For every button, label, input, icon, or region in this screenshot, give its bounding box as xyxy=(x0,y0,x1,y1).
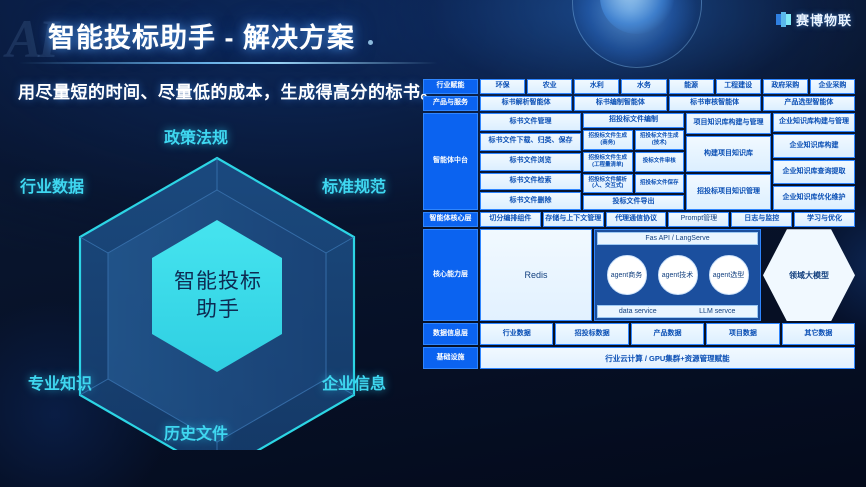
capability-big-model[interactable]: 领域大模型 xyxy=(763,229,855,321)
hexagon-label-enterprise: 企业信息 xyxy=(322,370,386,394)
platform-cell[interactable]: 标书文件浏览 xyxy=(480,153,581,171)
platform-cell[interactable]: 招投标文件生成 (工程量清单) xyxy=(583,152,633,172)
header-glow-dot-2 xyxy=(368,40,373,45)
capability-redis[interactable]: Redis xyxy=(480,229,592,321)
arch-row-industry: 行业赋能 环保 农业 水利 水务 能源 工程建设 政府采购 企业采购 xyxy=(423,79,855,94)
page-subtitle: 用尽量短的时间、尽量低的成本，生成得高分的标书。 xyxy=(18,78,438,103)
arch-label-infrastructure: 基础设施 xyxy=(423,347,478,369)
arch-row-capability-layer: 核心能力层 Redis Fas API / LangServe agent商务 … xyxy=(423,229,855,321)
product-cell[interactable]: 标书解析智能体 xyxy=(480,96,572,111)
platform-column-doc-authoring: 招投标文件编制 招投标文件生成 (商务) 招投标文件生成 (技术) 招投标文件生… xyxy=(583,113,684,210)
hexagon-label-policy: 政策法规 xyxy=(164,124,228,148)
platform-cell[interactable]: 标书文件管理 xyxy=(480,113,581,131)
capability-api-strip[interactable]: Fas API / LangServe xyxy=(597,232,758,245)
core-layer-cell[interactable]: 学习与优化 xyxy=(794,212,855,227)
industry-cell[interactable]: 水利 xyxy=(574,79,619,94)
architecture-stack: 行业赋能 环保 农业 水利 水务 能源 工程建设 政府采购 企业采购 产品与服务… xyxy=(423,79,855,371)
industry-cell[interactable]: 政府采购 xyxy=(763,79,808,94)
platform-cell[interactable]: 投标文件导出 xyxy=(583,195,684,210)
industry-cell[interactable]: 环保 xyxy=(480,79,525,94)
platform-cell[interactable]: 企业知识库优化维护 xyxy=(773,186,855,210)
agent-circle[interactable]: agent选型 xyxy=(709,255,749,295)
core-layer-cell[interactable]: 代理通信协议 xyxy=(606,212,667,227)
brand-name: 赛博物联 xyxy=(796,10,852,29)
agent-circle[interactable]: agent技术 xyxy=(658,255,698,295)
agent-circle[interactable]: agent商务 xyxy=(607,255,647,295)
brand-logo: 赛博物联 xyxy=(776,10,852,29)
core-layer-cell[interactable]: 切分编排组件 xyxy=(480,212,541,227)
product-cell[interactable]: 产品选型智能体 xyxy=(763,96,855,111)
product-cell[interactable]: 标书审核智能体 xyxy=(669,96,761,111)
platform-split-row: 招投标文件生成 (商务) 招投标文件生成 (技术) xyxy=(583,130,684,150)
platform-cell[interactable]: 企业知识库构建 xyxy=(773,134,855,158)
platform-cell[interactable]: 招投标文件解析 (人、交互式) xyxy=(583,174,633,194)
platform-cell[interactable]: 项目知识库构建与管理 xyxy=(686,113,771,134)
core-layer-cell[interactable]: 存储与上下文管理 xyxy=(543,212,604,227)
core-layer-cell[interactable]: 日志与监控 xyxy=(731,212,792,227)
arch-row-data-layer: 数据信息层 行业数据 招投标数据 产品数据 项目数据 其它数据 xyxy=(423,323,855,345)
service-label[interactable]: LLM servce xyxy=(678,308,758,315)
industry-cell[interactable]: 水务 xyxy=(621,79,666,94)
capability-service-strip: data service LLM servce xyxy=(597,305,758,318)
hexagon-core-label: 智能投标 助手 xyxy=(12,268,424,325)
platform-column-enterprise-kb: 企业知识库构建与管理 企业知识库构建 企业知识库查询提取 企业知识库优化维护 xyxy=(773,113,855,210)
capability-agent-group: Fas API / LangServe agent商务 agent技术 agen… xyxy=(594,229,761,321)
platform-cell[interactable]: 招投标文件生成 (商务) xyxy=(583,130,633,150)
arch-label-core-layer: 智能体核心层 xyxy=(423,212,478,227)
hexagon-label-industry-data: 行业数据 xyxy=(20,173,84,197)
hexagon-label-history: 历史文件 xyxy=(164,420,228,444)
platform-cell[interactable]: 构建项目知识库 xyxy=(686,136,771,172)
title-divider xyxy=(18,62,438,64)
core-layer-cell[interactable]: Prompt管理 xyxy=(668,212,729,227)
capability-agent-circles: agent商务 agent技术 agent选型 xyxy=(597,247,758,303)
arch-label-data-layer: 数据信息层 xyxy=(423,323,478,345)
header-glow-small xyxy=(600,0,674,34)
platform-column-project-kb: 项目知识库构建与管理 构建项目知识库 招投标项目知识管理 xyxy=(686,113,771,210)
big-model-label: 领域大模型 xyxy=(789,270,829,281)
service-label[interactable]: data service xyxy=(598,308,678,315)
arch-label-industry: 行业赋能 xyxy=(423,79,478,94)
industry-cell[interactable]: 农业 xyxy=(527,79,572,94)
industry-cell[interactable]: 企业采购 xyxy=(810,79,855,94)
platform-cell[interactable]: 招投标文件编制 xyxy=(583,113,684,128)
infrastructure-cell[interactable]: 行业云计算 / GPU集群+资源管理赋能 xyxy=(480,347,855,369)
arch-row-core-layer: 智能体核心层 切分编排组件 存储与上下文管理 代理通信协议 Prompt管理 日… xyxy=(423,212,855,227)
product-cell[interactable]: 标书编制智能体 xyxy=(574,96,666,111)
platform-split-row: 招投标文件解析 (人、交互式) 招投标文件保存 xyxy=(583,174,684,194)
industry-cell[interactable]: 能源 xyxy=(669,79,714,94)
header-glow-large xyxy=(572,0,702,68)
platform-cell[interactable]: 标书文件下载、归类、保存 xyxy=(480,133,581,151)
platform-cell[interactable]: 企业知识库构建与管理 xyxy=(773,113,855,132)
industry-cell[interactable]: 工程建设 xyxy=(716,79,761,94)
arch-row-platform: 智能体中台 标书文件管理 标书文件下载、归类、保存 标书文件浏览 标书文件检索 … xyxy=(423,113,855,210)
data-layer-cell[interactable]: 项目数据 xyxy=(706,323,779,345)
platform-cell[interactable]: 标书文件删除 xyxy=(480,192,581,210)
hexagon-label-expertise: 专业知识 xyxy=(28,370,92,394)
platform-cell[interactable]: 标书文件检索 xyxy=(480,173,581,191)
platform-column-file-management: 标书文件管理 标书文件下载、归类、保存 标书文件浏览 标书文件检索 标书文件删除 xyxy=(480,113,581,210)
arch-label-capability-layer: 核心能力层 xyxy=(423,229,478,321)
data-layer-cell[interactable]: 招投标数据 xyxy=(555,323,628,345)
hexagon-diagram: 智能投标 助手 政策法规 标准规范 企业信息 历史文件 专业知识 行业数据 xyxy=(12,120,424,450)
platform-cell[interactable]: 招投标文件生成 (技术) xyxy=(635,130,685,150)
data-layer-cell[interactable]: 产品数据 xyxy=(631,323,704,345)
platform-cell[interactable]: 招投标文件保存 xyxy=(635,174,685,194)
data-layer-cell[interactable]: 行业数据 xyxy=(480,323,553,345)
arch-row-infrastructure: 基础设施 行业云计算 / GPU集群+资源管理赋能 xyxy=(423,347,855,369)
arch-label-platform: 智能体中台 xyxy=(423,113,478,210)
platform-cell[interactable]: 投标文件审核 xyxy=(635,152,685,172)
data-layer-cell[interactable]: 其它数据 xyxy=(782,323,855,345)
brand-mark-icon xyxy=(776,12,791,27)
platform-cell[interactable]: 招投标项目知识管理 xyxy=(686,174,771,210)
platform-split-row: 招投标文件生成 (工程量清单) 投标文件审核 xyxy=(583,152,684,172)
platform-cell[interactable]: 企业知识库查询提取 xyxy=(773,160,855,184)
arch-row-products: 产品与服务 标书解析智能体 标书编制智能体 标书审核智能体 产品选型智能体 xyxy=(423,96,855,111)
arch-label-products: 产品与服务 xyxy=(423,96,478,111)
hexagon-label-standard: 标准规范 xyxy=(322,173,386,197)
page-title: 智能投标助手 - 解决方案 xyxy=(48,16,355,55)
